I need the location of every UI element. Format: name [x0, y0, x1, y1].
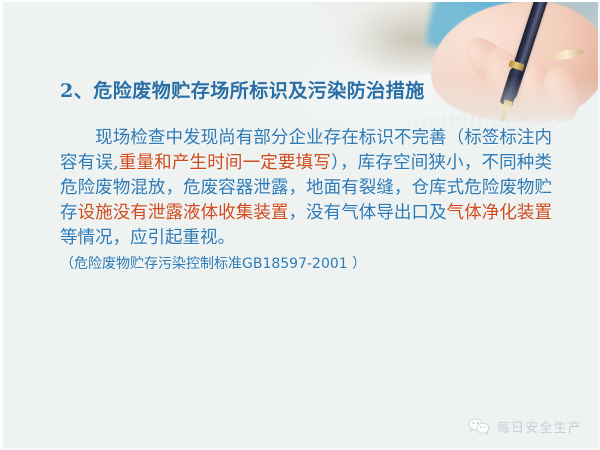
watermark: 每日安全生产 [468, 417, 582, 436]
standard-reference: （危险废物贮存污染控制标准GB18597-2001 ） [60, 252, 552, 277]
body-segment-red-2: 设施没有泄露液体收集装置 [78, 203, 289, 223]
slide-canvas: 2、危险废物贮存场所标识及污染防治措施 现场检查中发现尚有部分企业存在标识不完善… [0, 0, 600, 450]
watermark-text: 每日安全生产 [497, 417, 582, 436]
body-indent [60, 128, 95, 148]
body-segment-red-3: 气体净化装置 [447, 203, 552, 223]
body-segment-blue-3: ，没有气体导出口及 [288, 203, 446, 223]
body-text-block: 现场检查中发现尚有部分企业存在标识不完善（标签标注内容有误,重量和产生时间一定要… [60, 126, 552, 277]
page-title: 2、危险废物贮存场所标识及污染防治措施 [60, 76, 425, 103]
wechat-icon [468, 418, 490, 435]
body-paragraph: 现场检查中发现尚有部分企业存在标识不完善（标签标注内容有误,重量和产生时间一定要… [60, 126, 552, 277]
body-segment-blue-4: 等情况，应引起重视。 [60, 228, 235, 248]
slide-content: 2、危险废物贮存场所标识及污染防治措施 现场检查中发现尚有部分企业存在标识不完善… [0, 0, 600, 450]
body-segment-red-1: 重量和产生时间一定要填写 [119, 153, 331, 173]
